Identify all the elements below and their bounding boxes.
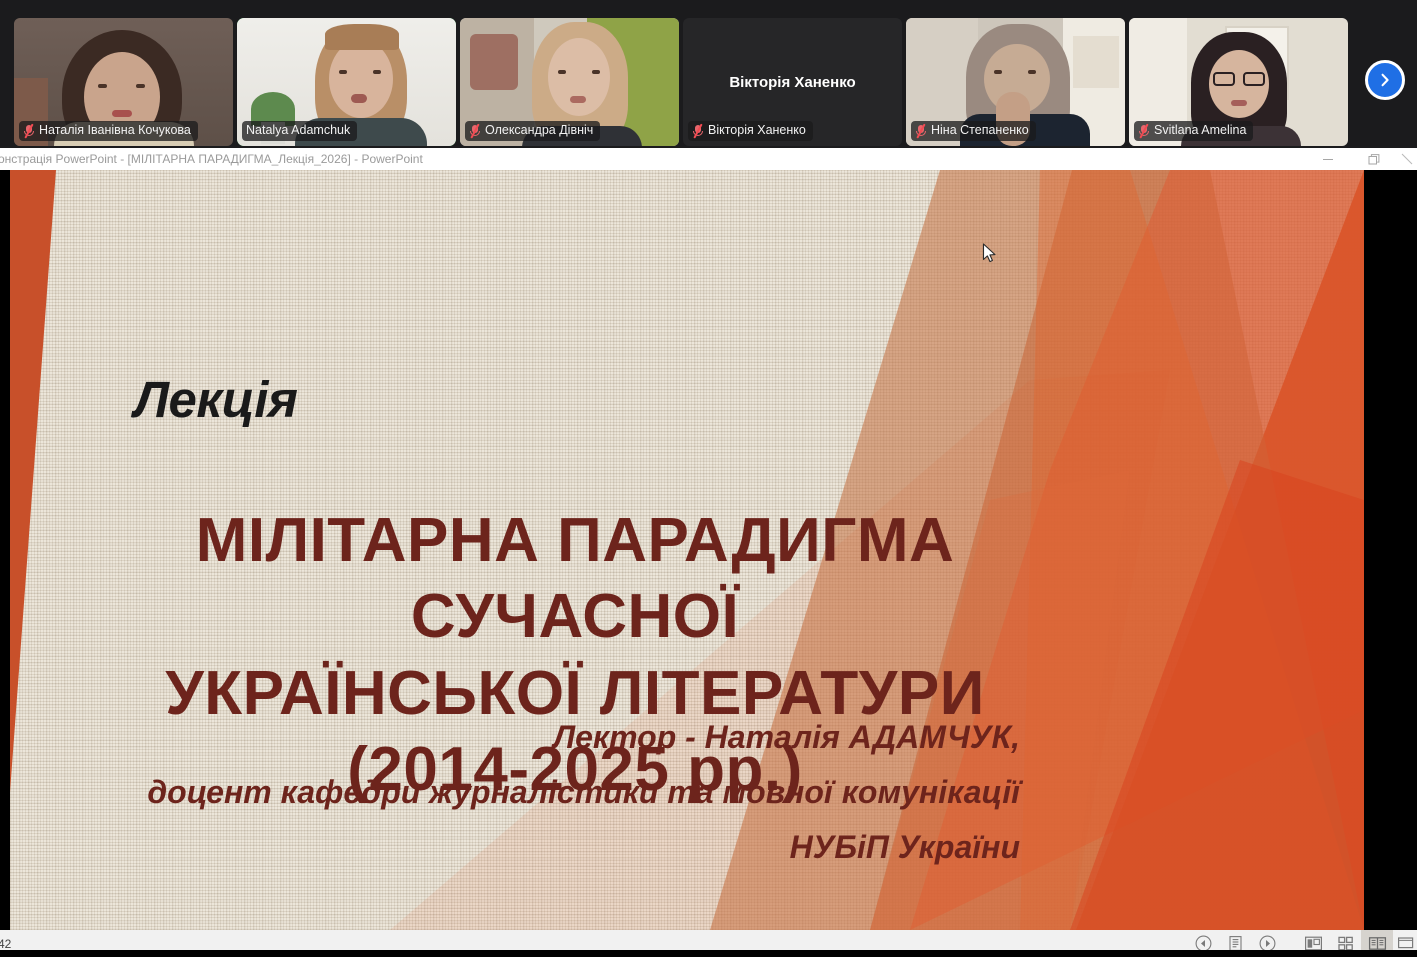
slide-lecture-label: Лекція [134,370,297,429]
participant-tile[interactable]: Олександра Дівніч [460,18,679,146]
participant-tile-no-video[interactable]: Вікторія Ханенко Вікторія Ханенко [683,18,902,146]
close-button[interactable] [1397,148,1417,170]
participant-name-chip: Svitlana Amelina [1134,121,1253,141]
participant-tile[interactable]: Наталія Іванівна Кочукова [14,18,233,146]
minimize-icon [1322,153,1334,165]
participant-name-chip: Олександра Дівніч [465,121,600,141]
muted-mic-icon [469,124,480,138]
screen: Наталія Іванівна Кочукова Natalya [0,0,1417,957]
participant-name: Svitlana Amelina [1154,123,1246,138]
participant-name-chip: Ніна Степаненко [911,121,1036,141]
participant-tile[interactable]: Ніна Степаненко [906,18,1125,146]
participant-name: Ніна Степаненко [931,123,1029,138]
slideshow-stage: Лекція МІЛІТАРНА ПАРАДИГМА СУЧАСНОЇ УКРА… [0,170,1417,930]
slide-content: Лекція МІЛІТАРНА ПАРАДИГМА СУЧАСНОЇ УКРА… [10,170,1364,930]
slide-title-line: МІЛІТАРНА ПАРАДИГМА [70,503,1080,579]
participant-name-chip: Вікторія Ханенко [688,121,813,141]
participant-name-chip: Natalya Adamchuk [242,121,357,141]
minimize-button[interactable] [1305,148,1351,170]
window-title: онстрація PowerPoint - [МІЛІТАРНА ПАРАДИ… [0,152,423,166]
bottom-black-strip [0,950,1417,957]
participant-tile-active-speaker[interactable]: Natalya Adamchuk [237,18,456,146]
video-filmstrip: Наталія Іванівна Кочукова Natalya [0,0,1417,148]
chevron-right-icon [1378,73,1392,87]
status-left-text: 42 [0,937,11,951]
slide-canvas[interactable]: Лекція МІЛІТАРНА ПАРАДИГМА СУЧАСНОЇ УКРА… [10,170,1364,930]
slide-attribution: Лектор - Наталія АДАМЧУК, доцент кафедри… [70,710,1020,875]
muted-mic-icon [915,124,926,138]
participant-name-chip: Наталія Іванівна Кочукова [19,121,198,141]
participant-name: Natalya Adamchuk [246,123,350,138]
muted-mic-icon [1138,124,1149,138]
muted-mic-icon [23,124,34,138]
mouse-cursor [982,243,998,265]
slide-title-line: СУЧАСНОЇ [70,579,1080,655]
participant-name: Вікторія Ханенко [708,123,806,138]
participant-tiles: Наталія Іванівна Кочукова Natalya [14,18,1348,146]
muted-mic-icon [692,124,703,138]
restore-button[interactable] [1351,148,1397,170]
attribution-line-lecturer: Лектор - Наталія АДАМЧУК, [70,710,1020,765]
attribution-line-position: доцент кафедри журналістики та мовної ко… [70,765,1020,820]
next-participants-page-button[interactable] [1365,60,1405,100]
window-controls [1305,148,1417,170]
restore-icon [1368,153,1381,166]
attribution-line-institution: НУБіП України [70,820,1020,875]
participant-tile[interactable]: Svitlana Amelina [1129,18,1348,146]
participant-name: Наталія Іванівна Кочукова [39,123,191,138]
close-icon [1401,153,1413,165]
powerpoint-titlebar: онстрація PowerPoint - [МІЛІТАРНА ПАРАДИ… [0,148,1417,170]
participant-name: Олександра Дівніч [485,123,593,138]
